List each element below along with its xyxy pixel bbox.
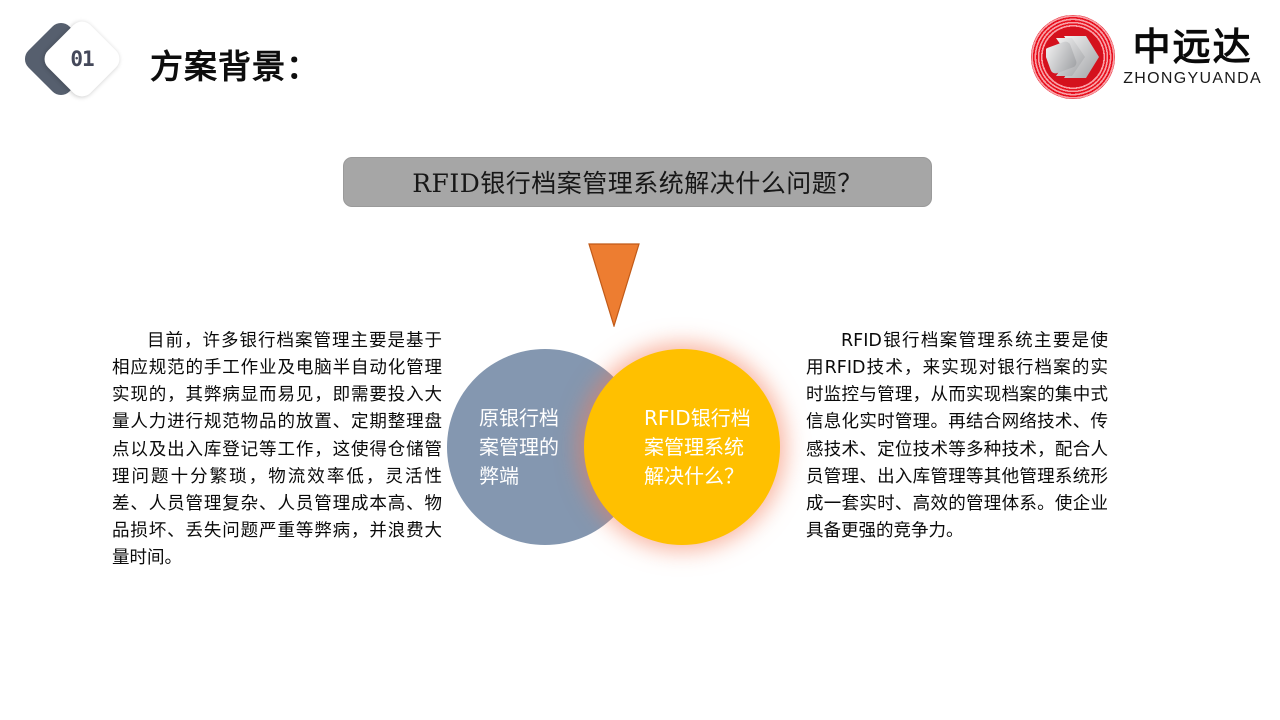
zhongyuanda-logo-icon [1031, 15, 1115, 99]
circle-rfid-solution: RFID银行档案管理系统解决什么？ [584, 349, 780, 545]
right-paragraph: RFID银行档案管理系统主要是使用RFID技术，来实现对银行档案的实时监控与管理… [806, 328, 1108, 545]
left-paragraph: 目前，许多银行档案管理主要是基于相应规范的手工作业及电脑半自动化管理实现的，其弊… [112, 328, 442, 572]
badge-number-label: 01 [52, 29, 112, 89]
page-title: 方案背景： [150, 40, 320, 88]
company-logo: 中远达 ZHONGYUANDA [1031, 14, 1262, 100]
question-banner: RFID银行档案管理系统解决什么问题？ [343, 157, 932, 207]
logo-name-cn: 中远达 [1133, 28, 1253, 66]
logo-wordmark: 中远达 ZHONGYUANDA [1123, 28, 1262, 87]
question-banner-text: RFID银行档案管理系统解决什么问题？ [412, 164, 863, 200]
logo-name-en: ZHONGYUANDA [1123, 71, 1262, 87]
slide-root: 01 方案背景： 中远达 ZHONGYUANDA [0, 0, 1280, 720]
logo-chevron-shape [1046, 33, 1100, 81]
down-triangle-arrow-icon [588, 243, 640, 327]
circle-rfid-solution-label: RFID银行档案管理系统解决什么？ [584, 404, 780, 491]
section-number-badge: 01 [30, 22, 122, 114]
